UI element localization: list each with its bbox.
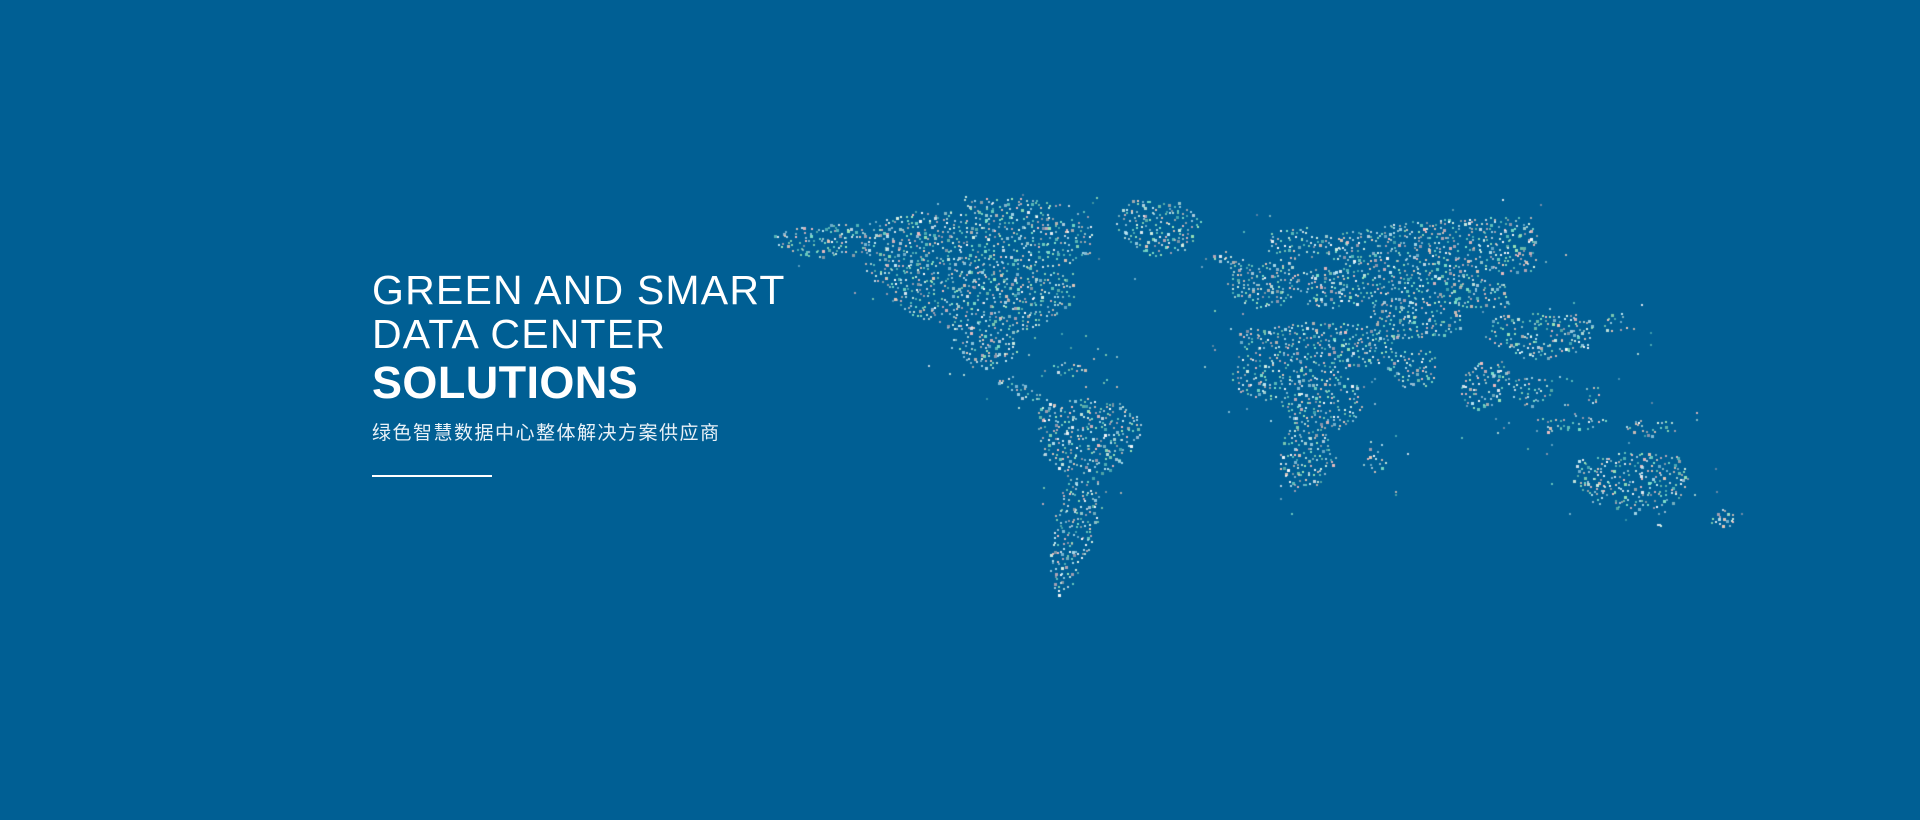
headline-line-1: GREEN AND SMART xyxy=(372,268,786,312)
hero-subtitle: 绿色智慧数据中心整体解决方案供应商 xyxy=(372,421,786,447)
headline-line-3: SOLUTIONS xyxy=(372,358,786,408)
headline-line-2: DATA CENTER xyxy=(372,312,786,356)
hero-banner: GREEN AND SMART DATA CENTER SOLUTIONS 绿色… xyxy=(0,0,1920,820)
hero-copy-block: GREEN AND SMART DATA CENTER SOLUTIONS 绿色… xyxy=(372,268,786,477)
dotted-world-map xyxy=(0,0,1920,820)
accent-rule xyxy=(372,475,492,477)
